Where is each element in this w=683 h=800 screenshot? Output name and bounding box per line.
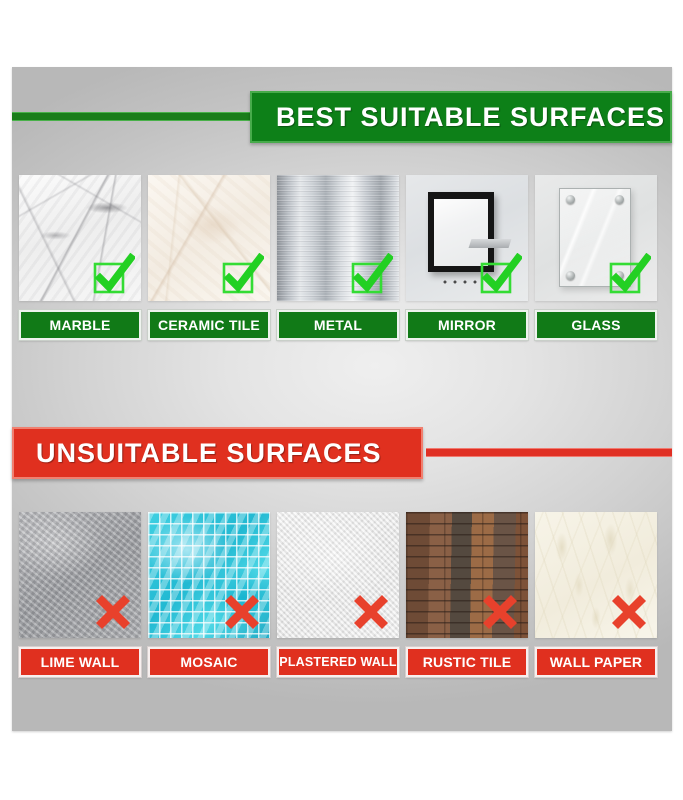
label-plastered-wall: PLASTERED WALL	[277, 647, 399, 677]
surface-card-wall-paper: WALL PAPER	[535, 512, 657, 677]
label-wall-paper: WALL PAPER	[535, 647, 657, 677]
glass-standoff-icon	[566, 195, 575, 204]
unsuitable-tile-strip: LIME WALL MOSAIC PLASTERED WALL	[19, 512, 665, 677]
label-lime-wall: LIME WALL	[19, 647, 141, 677]
label-mosaic: MOSAIC	[148, 647, 270, 677]
label-rustic-tile: RUSTIC TILE	[406, 647, 528, 677]
label-metal: METAL	[277, 310, 399, 340]
glass-standoff-icon	[615, 195, 624, 204]
rustic-tile-swatch-image	[406, 512, 528, 638]
label-mirror: MIRROR	[406, 310, 528, 340]
surface-card-rustic-tile: RUSTIC TILE	[406, 512, 528, 677]
plastered-wall-swatch-image	[277, 512, 399, 638]
cross-icon	[478, 590, 522, 634]
unsuitable-banner-title: UNSUITABLE SURFACES	[36, 438, 382, 469]
suitable-banner-row: BEST SUITABLE SURFACES	[12, 91, 672, 143]
unsuitable-banner-rule	[426, 448, 672, 457]
surface-card-lime-wall: LIME WALL	[19, 512, 141, 677]
label-marble: MARBLE	[19, 310, 141, 340]
surface-card-glass: GLASS	[535, 175, 657, 340]
lime-wall-swatch-image	[19, 512, 141, 638]
mirror-swatch-image	[406, 175, 528, 301]
mosaic-swatch-image	[148, 512, 270, 638]
surface-card-plastered-wall: PLASTERED WALL	[277, 512, 399, 677]
label-glass: GLASS	[535, 310, 657, 340]
label-ceramic-tile: CERAMIC TILE	[148, 310, 270, 340]
cross-icon	[349, 590, 393, 634]
surface-card-metal: METAL	[277, 175, 399, 340]
check-icon	[220, 253, 264, 297]
check-icon	[478, 253, 522, 297]
unsuitable-banner-row: UNSUITABLE SURFACES	[12, 427, 672, 479]
mirror-shelf	[469, 239, 512, 248]
ceramic-tile-swatch-image	[148, 175, 270, 301]
surface-card-marble: MARBLE	[19, 175, 141, 340]
marble-swatch-image	[19, 175, 141, 301]
infographic-panel: BEST SUITABLE SURFACES MARBLE	[12, 67, 672, 731]
suitable-tile-strip: MARBLE CERAMIC TILE	[19, 175, 665, 340]
suitable-banner-rule	[12, 112, 250, 121]
mirror-switch-plate	[440, 279, 480, 285]
suitable-banner-box: BEST SUITABLE SURFACES	[250, 91, 672, 143]
glass-standoff-icon	[566, 271, 575, 280]
surface-card-ceramic-tile: CERAMIC TILE	[148, 175, 270, 340]
cross-icon	[220, 590, 264, 634]
cross-icon	[607, 590, 651, 634]
cross-icon	[91, 590, 135, 634]
metal-swatch-image	[277, 175, 399, 301]
suitable-banner-title: BEST SUITABLE SURFACES	[276, 102, 665, 133]
unsuitable-banner-box: UNSUITABLE SURFACES	[12, 427, 423, 479]
glass-swatch-image	[535, 175, 657, 301]
surface-card-mosaic: MOSAIC	[148, 512, 270, 677]
check-icon	[349, 253, 393, 297]
surface-card-mirror: MIRROR	[406, 175, 528, 340]
check-icon	[607, 253, 651, 297]
wall-paper-swatch-image	[535, 512, 657, 638]
check-icon	[91, 253, 135, 297]
